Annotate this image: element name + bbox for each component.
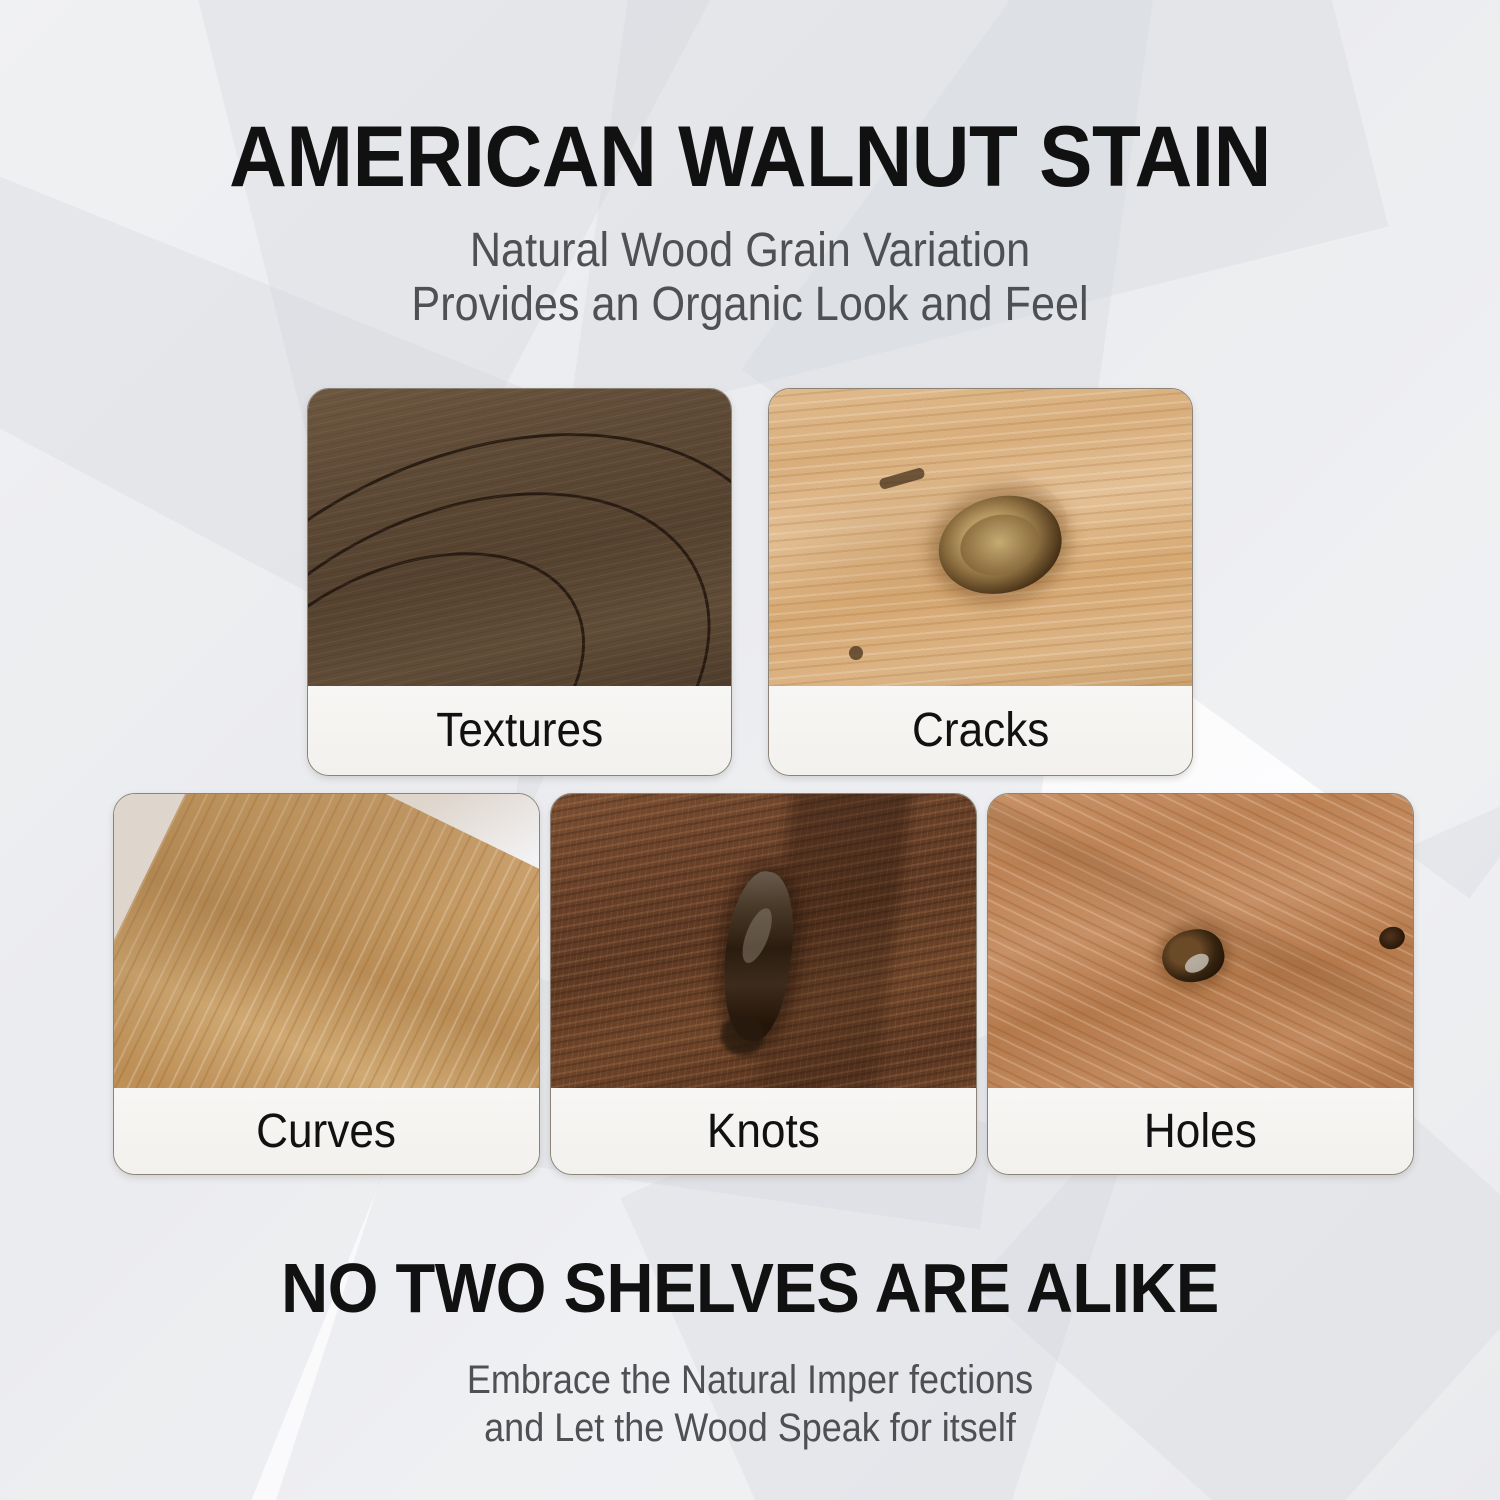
card-label-knots: Knots [551,1088,976,1174]
footer-subtitle-line-2: and Let the Wood Speak for itself [75,1404,1425,1452]
feature-card-holes[interactable]: Holes [987,793,1414,1175]
card-label-text: Holes [1144,1104,1257,1159]
feature-card-cracks[interactable]: Cracks [768,388,1193,776]
footer-subtitle-line-1: Embrace the Natural Imper fections [75,1356,1425,1404]
wood-texture-reddish-brown [551,794,976,1090]
header-subtitle-line-1: Natural Wood Grain Variation [75,224,1425,278]
wood-texture-dark-walnut [308,389,731,688]
card-label-text: Knots [707,1104,820,1159]
card-label-curves: Curves [114,1088,539,1174]
feature-card-knots[interactable]: Knots [550,793,977,1175]
grain-streaks [308,389,731,688]
main-title: AMERICAN WALNUT STAIN [53,110,1448,204]
header-subtitle-line-2: Provides an Organic Look and Feel [75,278,1425,332]
wood-photo-curves [114,794,539,1090]
footer-title: NO TWO SHELVES ARE ALIKE [53,1249,1448,1327]
card-label-text: Curves [257,1104,397,1159]
card-label-text: Cracks [912,703,1049,758]
wood-texture-pale-tan [769,389,1192,688]
wood-photo-holes [988,794,1413,1090]
card-label-textures: Textures [308,686,731,775]
feature-card-curves[interactable]: Curves [113,793,540,1175]
header-subtitle: Natural Wood Grain Variation Provides an… [75,224,1425,332]
card-label-holes: Holes [988,1088,1413,1174]
plank-surface [114,794,539,1090]
card-label-cracks: Cracks [769,686,1192,775]
infographic-page: AMERICAN WALNUT STAIN Natural Wood Grain… [0,0,1500,1500]
wood-photo-knots [551,794,976,1090]
wood-texture-golden-plank [114,794,539,1090]
wood-photo-textures [308,389,731,688]
card-label-text: Textures [436,703,603,758]
feature-card-textures[interactable]: Textures [307,388,732,776]
footer-subtitle: Embrace the Natural Imper fections and L… [75,1356,1425,1452]
wood-texture-copper-board [988,794,1413,1090]
wood-photo-cracks [769,389,1192,688]
